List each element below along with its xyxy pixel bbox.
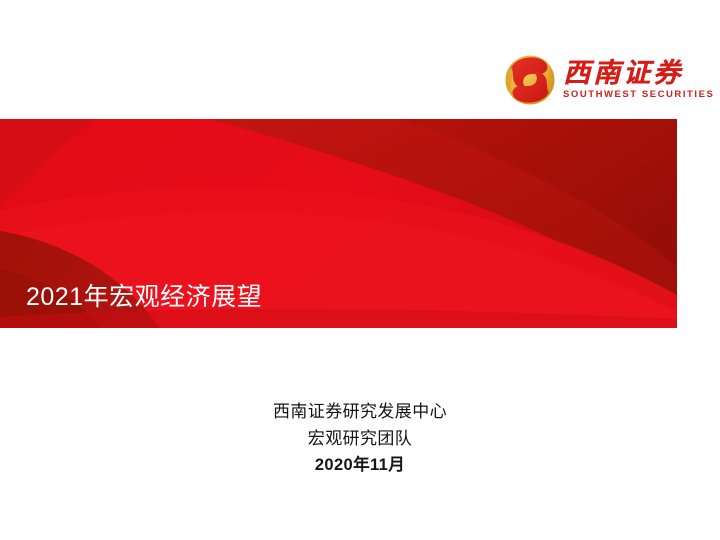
footer-line-team: 宏观研究团队 [0, 425, 720, 452]
brand-name-english: SOUTHWEST SECURITIES [563, 90, 714, 100]
brand-logo: 西南证券 SOUTHWEST SECURITIES [503, 50, 689, 110]
southwest-securities-circular-s-mark-icon [503, 53, 557, 107]
footer-line-date: 2020年11月 [0, 452, 720, 479]
title-slide: 西南证券 SOUTHWEST SECURITIES [0, 0, 720, 540]
footer-credits: 西南证券研究发展中心 宏观研究团队 2020年11月 [0, 398, 720, 479]
red-banner: 2021年宏观经济展望 变局之下，向阳而生 [0, 119, 677, 328]
brand-name-chinese: 西南证券 [563, 60, 714, 88]
slide-kicker-title: 2021年宏观经济展望 [26, 277, 262, 313]
footer-line-organization: 西南证券研究发展中心 [0, 398, 720, 425]
brand-wordmark: 西南证券 SOUTHWEST SECURITIES [563, 60, 714, 101]
